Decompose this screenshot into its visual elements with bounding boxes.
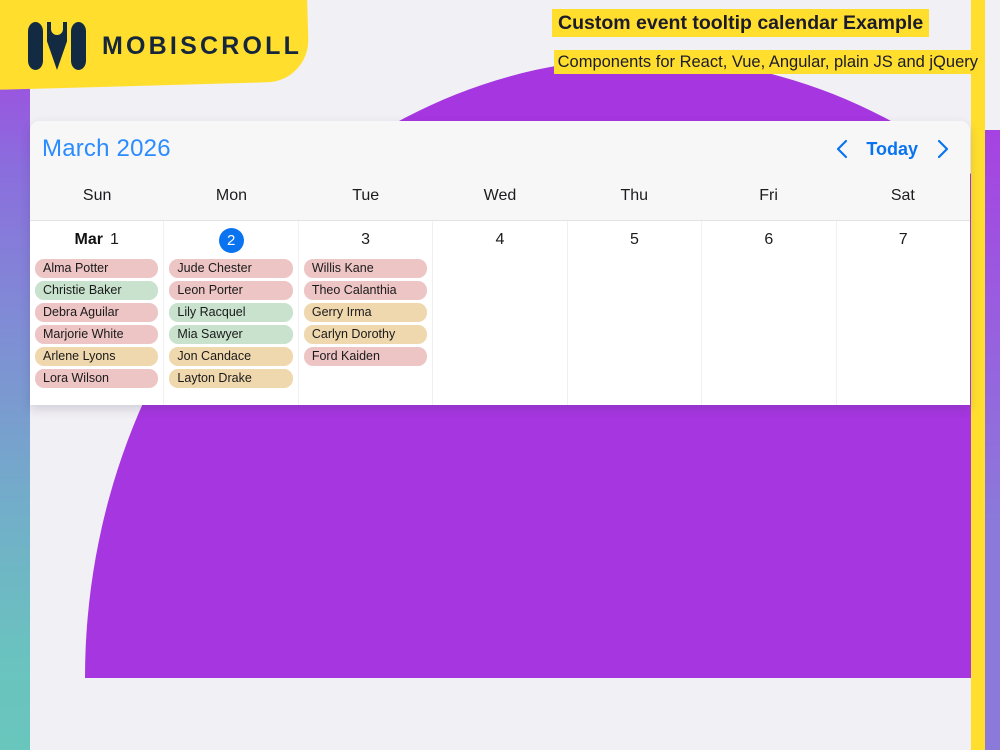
page-subtitle: Components for React, Vue, Angular, plai…: [554, 50, 982, 74]
calendar-day-names-row: SunMonTueWedThuFriSat: [30, 177, 970, 221]
calendar-event[interactable]: Jon Candace: [169, 347, 292, 366]
calendar-day-cell-7[interactable]: 7: [837, 221, 970, 405]
chevron-left-icon[interactable]: [828, 136, 854, 162]
day-number[interactable]: 6: [764, 231, 773, 249]
calendar-event[interactable]: Lora Wilson: [35, 369, 158, 388]
calendar-week-grid: Mar1Alma PotterChristie BakerDebra Aguil…: [30, 221, 970, 405]
calendar-day-name-mon: Mon: [164, 177, 298, 220]
header-subtitle-line: Components for React, Vue, Angular, plai…: [552, 48, 982, 76]
calendar-event[interactable]: Willis Kane: [304, 259, 427, 278]
calendar-event[interactable]: Debra Aguilar: [35, 303, 158, 322]
calendar-month-title: March 2026: [42, 135, 171, 163]
calendar-day-name-sun: Sun: [30, 177, 164, 220]
calendar-event[interactable]: Theo Calanthia: [304, 281, 427, 300]
logo-bar-left: [28, 22, 43, 70]
calendar-event[interactable]: Arlene Lyons: [35, 347, 158, 366]
calendar-event[interactable]: Jude Chester: [169, 259, 292, 278]
brand-logo[interactable]: MOBISCROLL: [28, 22, 302, 70]
page-title: Custom event tooltip calendar Example: [552, 9, 929, 37]
page-root: MOBISCROLL Custom event tooltip calendar…: [0, 0, 1000, 750]
calendar-day-name-thu: Thu: [567, 177, 701, 220]
day-event-list: Alma PotterChristie BakerDebra AguilarMa…: [35, 259, 158, 388]
right-yellow-strip: [971, 0, 985, 750]
day-number-row: 2: [169, 221, 292, 259]
calendar-toolbar: March 2026 Today: [30, 121, 970, 177]
day-number-row: 3: [304, 221, 427, 259]
calendar-event[interactable]: Alma Potter: [35, 259, 158, 278]
calendar-event[interactable]: Leon Porter: [169, 281, 292, 300]
day-event-list: Jude ChesterLeon PorterLily RacquelMia S…: [169, 259, 292, 388]
calendar-day-cell-3[interactable]: 3Willis KaneTheo CalanthiaGerry IrmaCarl…: [299, 221, 433, 405]
calendar-event[interactable]: Mia Sawyer: [169, 325, 292, 344]
calendar-day-cell-2[interactable]: 2Jude ChesterLeon PorterLily RacquelMia …: [164, 221, 298, 405]
calendar-day-name-fri: Fri: [701, 177, 835, 220]
day-number-row: 4: [438, 221, 561, 259]
day-number-row: 6: [707, 221, 830, 259]
day-number-row: 5: [573, 221, 696, 259]
header-title-line: Custom event tooltip calendar Example: [552, 8, 982, 39]
calendar-event[interactable]: Layton Drake: [169, 369, 292, 388]
left-gradient-strip: [0, 0, 30, 750]
header-text-block: Custom event tooltip calendar Example Co…: [552, 8, 982, 76]
day-number[interactable]: 3: [361, 231, 370, 249]
calendar-day-name-sat: Sat: [836, 177, 970, 220]
calendar-event[interactable]: Gerry Irma: [304, 303, 427, 322]
calendar-event[interactable]: Christie Baker: [35, 281, 158, 300]
calendar-nav-controls: Today: [828, 136, 956, 162]
day-number[interactable]: 5: [630, 231, 639, 249]
calendar-event[interactable]: Lily Racquel: [169, 303, 292, 322]
chevron-right-icon[interactable]: [930, 136, 956, 162]
mobiscroll-m-logo-icon: [28, 22, 86, 70]
logo-v-shape: [47, 22, 67, 70]
calendar-card: March 2026 Today SunMonTueWedThuFriSat M…: [30, 121, 970, 405]
calendar-day-cell-1[interactable]: Mar1Alma PotterChristie BakerDebra Aguil…: [30, 221, 164, 405]
calendar-event[interactable]: Carlyn Dorothy: [304, 325, 427, 344]
day-number-row: Mar1: [35, 221, 158, 259]
right-grey-mask: [985, 0, 1000, 130]
calendar-day-name-tue: Tue: [299, 177, 433, 220]
calendar-event[interactable]: Ford Kaiden: [304, 347, 427, 366]
day-number[interactable]: 7: [899, 231, 908, 249]
calendar-day-name-wed: Wed: [433, 177, 567, 220]
day-number[interactable]: 1: [110, 231, 119, 249]
today-button[interactable]: Today: [864, 139, 920, 160]
day-number[interactable]: 4: [496, 231, 505, 249]
logo-bar-right: [71, 22, 86, 70]
day-month-label: Mar: [75, 231, 103, 249]
calendar-day-cell-4[interactable]: 4: [433, 221, 567, 405]
calendar-day-cell-5[interactable]: 5: [568, 221, 702, 405]
day-number-row: 7: [842, 221, 965, 259]
day-event-list: Willis KaneTheo CalanthiaGerry IrmaCarly…: [304, 259, 427, 366]
calendar-event[interactable]: Marjorie White: [35, 325, 158, 344]
calendar-day-cell-6[interactable]: 6: [702, 221, 836, 405]
brand-name: MOBISCROLL: [102, 32, 302, 61]
day-number-today[interactable]: 2: [219, 228, 244, 253]
